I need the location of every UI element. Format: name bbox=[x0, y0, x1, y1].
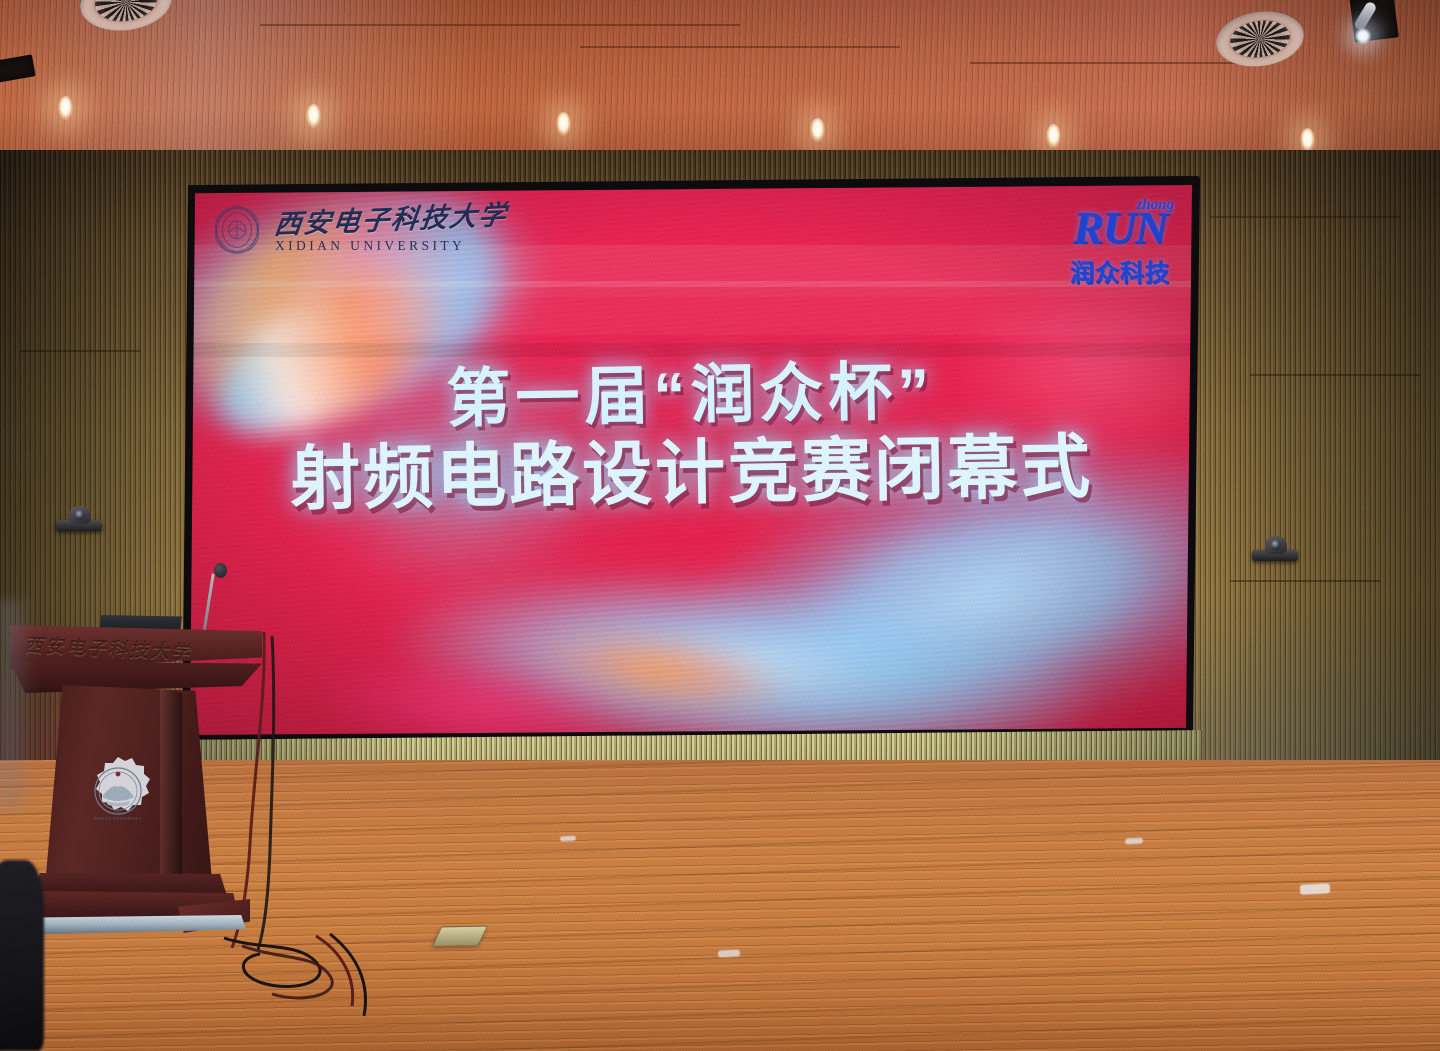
university-name-cn: 西安电子科技大学 bbox=[273, 202, 509, 239]
foreground-blur bbox=[0, 600, 36, 810]
ceiling-seam bbox=[260, 24, 740, 26]
screen-content: 西安电子科技大学 XIDIAN UNIVERSITY RUN zhong 润众科… bbox=[190, 185, 1192, 735]
floor-marker bbox=[718, 949, 740, 957]
svg-text:1931: 1931 bbox=[113, 810, 124, 815]
downlight-icon bbox=[58, 96, 73, 120]
sponsor-brand-superscript: zhong bbox=[1136, 197, 1174, 214]
spotlight-icon bbox=[1353, 0, 1378, 31]
floor-marker bbox=[1300, 883, 1330, 895]
ptz-camera-icon bbox=[1252, 536, 1298, 562]
event-title-line1: 第一届“润众杯” bbox=[190, 353, 1192, 437]
ceiling-seam bbox=[580, 46, 900, 48]
floor-marker bbox=[560, 836, 576, 842]
podium-body-edge bbox=[160, 687, 182, 879]
spotlight-glow bbox=[1355, 28, 1371, 44]
xidian-emblem-icon: 1931 XIDIAN UNIVERSITY bbox=[82, 755, 154, 827]
auditorium-stage-photo: 西安电子科技大学 XIDIAN UNIVERSITY RUN zhong 润众科… bbox=[0, 0, 1440, 1051]
ceiling-seam bbox=[970, 62, 1270, 64]
ptz-camera-icon bbox=[56, 506, 102, 532]
floor-socket-icon bbox=[432, 926, 488, 947]
event-title: 第一届“润众杯” 射频电路设计竞赛闭幕式 bbox=[190, 353, 1192, 520]
floor-marker bbox=[1125, 838, 1143, 845]
event-title-line2: 射频电路设计竞赛闭幕式 bbox=[190, 428, 1192, 521]
sponsor-brand-cn: 润众科技 bbox=[1070, 253, 1170, 288]
university-seal-icon bbox=[208, 199, 266, 261]
downlight-icon bbox=[306, 104, 321, 128]
microphone-head-icon bbox=[214, 563, 227, 578]
svg-text:XIDIAN UNIVERSITY: XIDIAN UNIVERSITY bbox=[94, 816, 142, 821]
university-logo: 西安电子科技大学 XIDIAN UNIVERSITY bbox=[208, 199, 507, 261]
university-name-en: XIDIAN UNIVERSITY bbox=[275, 239, 507, 253]
foreground-person-silhouette bbox=[0, 860, 44, 1051]
speaker-podium: 西安电子科技大学 1931 XIDIAN UNIVERSITY bbox=[10, 615, 262, 945]
downlight-icon bbox=[810, 118, 825, 142]
downlight-icon bbox=[556, 112, 571, 136]
downlight-icon bbox=[1300, 128, 1315, 152]
sponsor-logo: RUN zhong 润众科技 bbox=[1070, 201, 1170, 288]
coiled-cable bbox=[212, 932, 382, 1042]
downlight-icon bbox=[1046, 124, 1061, 148]
podium-foot-trim bbox=[10, 915, 246, 935]
podium-shelf bbox=[10, 661, 262, 693]
led-display-screen: 西安电子科技大学 XIDIAN UNIVERSITY RUN zhong 润众科… bbox=[182, 176, 1200, 744]
